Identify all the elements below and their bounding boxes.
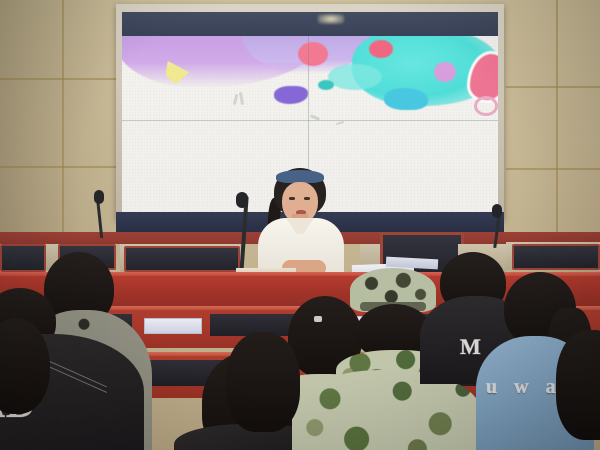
wall-grid-line (0, 166, 116, 168)
audience-head (226, 332, 300, 432)
hair-clip (314, 316, 322, 322)
audience-head (0, 318, 50, 414)
wall-grid-line (62, 0, 64, 268)
audience-far-right (556, 330, 600, 450)
conference-room-photo: AD M u w a (0, 0, 600, 450)
microphone-head (236, 192, 248, 208)
audience-head (556, 330, 600, 440)
presenter-eye-right (304, 197, 310, 200)
presenter (252, 168, 348, 278)
shirt-back-text: M (460, 334, 482, 360)
audience-far-left (0, 318, 52, 438)
cyan-blob-shape-3 (384, 88, 428, 110)
screen-seam-horizontal (122, 120, 498, 121)
pink-blob-shape-2 (369, 40, 393, 58)
wall-grid-line (506, 168, 600, 170)
wall-grid-line (556, 0, 558, 250)
audience-left-mid (226, 332, 306, 450)
denim-back-text: u w a (486, 376, 562, 399)
wall-grid-line (0, 78, 116, 80)
ring-outline-shape (474, 96, 498, 116)
wall-grid-line (506, 86, 600, 88)
teal-dot-shape (318, 80, 334, 90)
microphone-head (492, 204, 502, 218)
lilac-circle-shape (434, 62, 456, 82)
presenter-eye-left (289, 197, 295, 200)
microphone-head (94, 190, 104, 204)
wall-shadow-left (0, 0, 130, 270)
cyan-blob-shape-2 (328, 64, 382, 90)
pink-blob-shape (298, 42, 328, 66)
screen-top-dark-band (122, 12, 498, 38)
